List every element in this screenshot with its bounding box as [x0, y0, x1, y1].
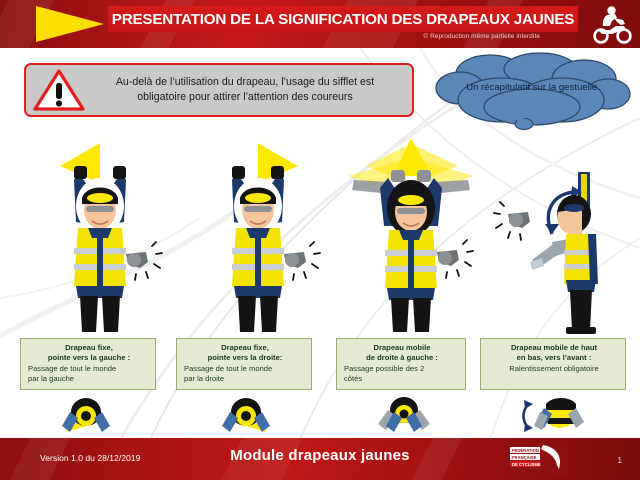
caption-title: Drapeau mobile de droite à gauche : [344, 343, 460, 363]
caption-body-line-1: Passage de tout le monde [28, 364, 150, 374]
svg-text:FÉDÉRATION: FÉDÉRATION [512, 448, 539, 453]
svg-text:FRANÇAISE: FRANÇAISE [512, 455, 537, 460]
caption-flag-fixed-left: Drapeau fixe, pointe vers la gauche : Pa… [20, 338, 156, 390]
mini-figure-top-view-flag-vertical [518, 392, 590, 438]
mini-figure-top-view-flag-both [368, 392, 440, 438]
copyright-notice: © Reproduction même partielle interdite [0, 33, 600, 40]
caption-flag-mobile-top-to-bottom: Drapeau mobile de haut en bas, vers l’av… [480, 338, 626, 390]
caption-title-line-1: Drapeau fixe, [28, 343, 150, 353]
caption-flag-fixed-right: Drapeau fixe, pointe vers la droite: Pas… [176, 338, 312, 390]
slide-footer: Version 1.0 du 28/12/2019 Module drapeau… [0, 438, 640, 480]
motorcycle-rider-icon [590, 3, 634, 45]
caption-title-line-2: pointe vers la droite: [184, 353, 306, 363]
caption-title-line-2: de droite à gauche : [344, 353, 460, 363]
caption-body-line-1: Passage de tout le monde [184, 364, 306, 374]
figure-flag-fixed-right [188, 136, 328, 334]
mini-figure-top-view-flag-left [50, 392, 122, 438]
ffc-logo-icon: FÉDÉRATION FRANÇAISE DE CYCLISME [507, 443, 567, 475]
slide-canvas: PRESENTATION DE LA SIGNIFICATION DES DRA… [0, 0, 640, 480]
svg-text:DE CYCLISME: DE CYCLISME [512, 462, 541, 467]
caption-body-line-2: côtés [344, 374, 460, 384]
caption-body: Passage de tout le monde par la droite [184, 364, 306, 384]
thought-bubble-text: Un récapitulatif sur la gestuelle. [444, 82, 622, 93]
figure-flag-mobile-top-to-bottom [492, 172, 622, 334]
whistle-icon [494, 202, 530, 240]
whistle-icon [437, 240, 473, 278]
caption-title: Drapeau mobile de haut en bas, vers l’av… [488, 343, 620, 363]
warning-line-2: obligatoire pour attirer l’attention des… [88, 90, 402, 105]
caption-title-line-1: Drapeau mobile de haut [488, 343, 620, 353]
figure-flag-mobile-right-to-left [336, 136, 486, 334]
caption-title-line-1: Drapeau mobile [344, 343, 460, 353]
caption-body-line-1: Ralentissement obligatoire [488, 364, 620, 374]
warning-line-1: Au-delà de l’utilisation du drapeau, l’u… [88, 75, 402, 90]
caption-title-line-2: pointe vers la gauche : [28, 353, 150, 363]
warning-text: Au-delà de l’utilisation du drapeau, l’u… [86, 75, 412, 106]
caption-body-line-2: par la gauche [28, 374, 150, 384]
warning-triangle-icon [32, 68, 86, 112]
vertical-double-arrow-icon [524, 400, 534, 432]
whistle-icon [284, 242, 320, 280]
caption-title: Drapeau fixe, pointe vers la gauche : [28, 343, 150, 363]
title-plate: PRESENTATION DE LA SIGNIFICATION DES DRA… [108, 6, 578, 32]
warning-callout: Au-delà de l’utilisation du drapeau, l’u… [24, 63, 414, 117]
caption-body-line-2: par la droite [184, 374, 306, 384]
caption-body-line-1: Passage possible des 2 [344, 364, 460, 374]
slide-header: PRESENTATION DE LA SIGNIFICATION DES DRA… [0, 0, 640, 48]
caption-body: Passage de tout le monde par la gauche [28, 364, 150, 384]
caption-title-line-1: Drapeau fixe, [184, 343, 306, 353]
page-title: PRESENTATION DE LA SIGNIFICATION DES DRA… [112, 11, 574, 28]
page-number: 1 [617, 455, 622, 465]
caption-title-line-2: en bas, vers l’avant : [488, 353, 620, 363]
caption-body: Passage possible des 2 côtés [344, 364, 460, 384]
caption-body: Ralentissement obligatoire [488, 364, 620, 374]
whistle-icon [126, 242, 162, 280]
caption-flag-mobile-right-to-left: Drapeau mobile de droite à gauche : Pass… [336, 338, 466, 390]
mini-figure-top-view-flag-right [210, 392, 282, 438]
caption-title: Drapeau fixe, pointe vers la droite: [184, 343, 306, 363]
thought-bubble: Un récapitulatif sur la gestuelle. [432, 52, 632, 130]
figure-flag-fixed-left [30, 136, 170, 334]
